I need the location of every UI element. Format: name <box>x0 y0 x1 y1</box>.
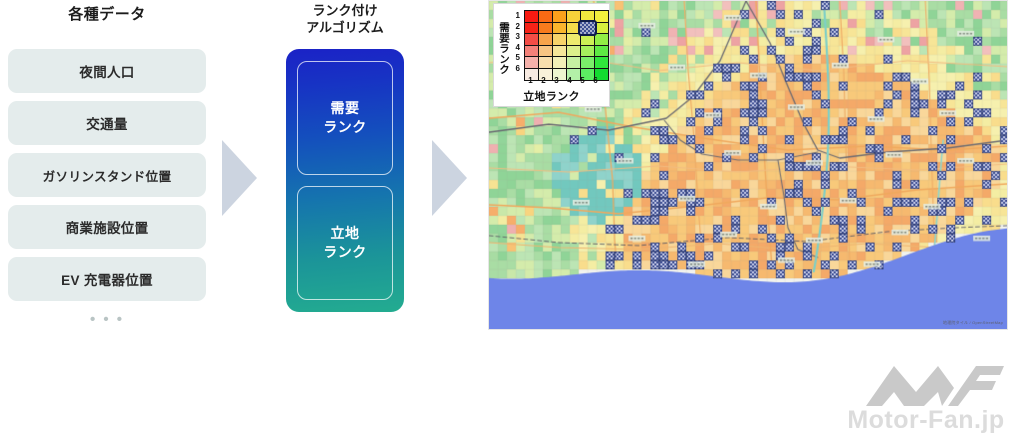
legend-row <box>525 34 609 46</box>
legend-cell-4-2 <box>539 45 553 57</box>
legend-x-tick-3: 3 <box>550 76 563 85</box>
legend-x-tick-4: 4 <box>563 76 576 85</box>
legend-cell-2-5 <box>581 22 595 34</box>
legend-cell-4-3 <box>553 45 567 57</box>
motor-fan-logo-icon <box>864 362 1004 406</box>
legend-x-ticks: 123456 <box>524 76 602 85</box>
legend-y-tick-1: 1 <box>510 11 520 22</box>
legend-cell-4-4 <box>567 45 581 57</box>
legend-x-tick-1: 1 <box>524 76 537 85</box>
watermark-text: Motor-Fan.jp <box>838 406 1014 434</box>
legend-x-tick-6: 6 <box>589 76 602 85</box>
legend-y-tick-3: 3 <box>510 32 520 43</box>
algorithm-column: ランク付け アルゴリズム 需要 ランク 立地 ランク <box>282 0 408 330</box>
legend-x-axis-label: 立地ランク <box>494 88 609 104</box>
list-item[interactable]: 商業施設位置 <box>8 205 206 249</box>
legend-cell-4-5 <box>581 45 595 57</box>
legend-color-grid <box>524 10 609 81</box>
watermark: Motor-Fan.jp <box>838 362 1014 436</box>
legend-y-ticks: 123456 <box>510 11 520 75</box>
data-sources-title: 各種データ <box>8 5 206 25</box>
legend-row <box>525 45 609 57</box>
legend-cell-1-6 <box>595 11 609 23</box>
legend-y-tick-4: 4 <box>510 43 520 54</box>
legend-cell-2-2 <box>539 22 553 34</box>
legend-cell-5-6 <box>595 57 609 69</box>
arrow-right-icon <box>432 140 467 216</box>
legend-cell-5-1 <box>525 57 539 69</box>
algorithm-title-line2: アルゴリズム <box>306 20 384 35</box>
legend-cell-5-2 <box>539 57 553 69</box>
legend-row <box>525 57 609 69</box>
algorithm-title-line1: ランク付け <box>312 3 377 18</box>
legend-cell-4-6 <box>595 45 609 57</box>
data-pill-label: 商業施設位置 <box>66 217 149 237</box>
data-sources-list: 夜間人口 交通量 ガソリンスタンド位置 商業施設位置 EV 充電器位置 <box>8 49 206 301</box>
legend-x-tick-5: 5 <box>576 76 589 85</box>
legend-grid-wrap <box>524 10 609 81</box>
legend-y-tick-5: 5 <box>510 53 520 64</box>
legend-cell-2-1 <box>525 22 539 34</box>
demand-rank-card[interactable]: 需要 ランク <box>297 61 393 175</box>
legend-y-axis-label: 需要ランク <box>496 12 509 84</box>
location-rank-line1: 立地 <box>331 224 360 243</box>
legend-cell-3-1 <box>525 34 539 46</box>
data-pill-label: 夜間人口 <box>79 61 134 81</box>
legend-x-tick-2: 2 <box>537 76 550 85</box>
legend-row <box>525 22 609 34</box>
data-pill-label: EV 充電器位置 <box>61 269 153 289</box>
heatmap-legend: 需要ランク 123456 123456 立地ランク <box>493 3 610 107</box>
legend-cell-5-4 <box>567 57 581 69</box>
demand-rank-line2: ランク <box>323 118 367 137</box>
location-rank-card[interactable]: 立地 ランク <box>297 186 393 300</box>
legend-cell-3-2 <box>539 34 553 46</box>
legend-cell-3-3 <box>553 34 567 46</box>
legend-cell-1-1 <box>525 11 539 23</box>
legend-y-tick-2: 2 <box>510 22 520 33</box>
result-map-panel[interactable]: 需要ランク 123456 123456 立地ランク 地理院タイル / OpenS… <box>488 0 1008 330</box>
map-attribution: 地理院タイル / OpenStreetMap <box>943 320 1003 326</box>
legend-cell-5-5 <box>581 57 595 69</box>
legend-cell-1-3 <box>553 11 567 23</box>
data-sources-column: 各種データ 夜間人口 交通量 ガソリンスタンド位置 商業施設位置 EV 充電器位… <box>8 0 206 340</box>
data-pill-label: ガソリンスタンド位置 <box>43 166 172 185</box>
legend-cell-5-3 <box>553 57 567 69</box>
list-item[interactable]: 交通量 <box>8 101 206 145</box>
list-item[interactable]: ガソリンスタンド位置 <box>8 153 206 197</box>
legend-y-tick-6: 6 <box>510 64 520 75</box>
demand-rank-line1: 需要 <box>331 99 360 118</box>
legend-cell-1-2 <box>539 11 553 23</box>
algorithm-title: ランク付け アルゴリズム <box>282 2 408 38</box>
data-pill-label: 交通量 <box>86 113 127 133</box>
legend-cell-3-6 <box>595 34 609 46</box>
list-item[interactable]: 夜間人口 <box>8 49 206 93</box>
legend-cell-4-1 <box>525 45 539 57</box>
algorithm-box: 需要 ランク 立地 ランク <box>286 49 404 312</box>
arrow-right-icon <box>222 140 257 216</box>
list-item[interactable]: EV 充電器位置 <box>8 257 206 301</box>
more-items-ellipsis: • • • <box>8 311 206 328</box>
legend-cell-2-3 <box>553 22 567 34</box>
location-rank-line2: ランク <box>323 243 367 262</box>
